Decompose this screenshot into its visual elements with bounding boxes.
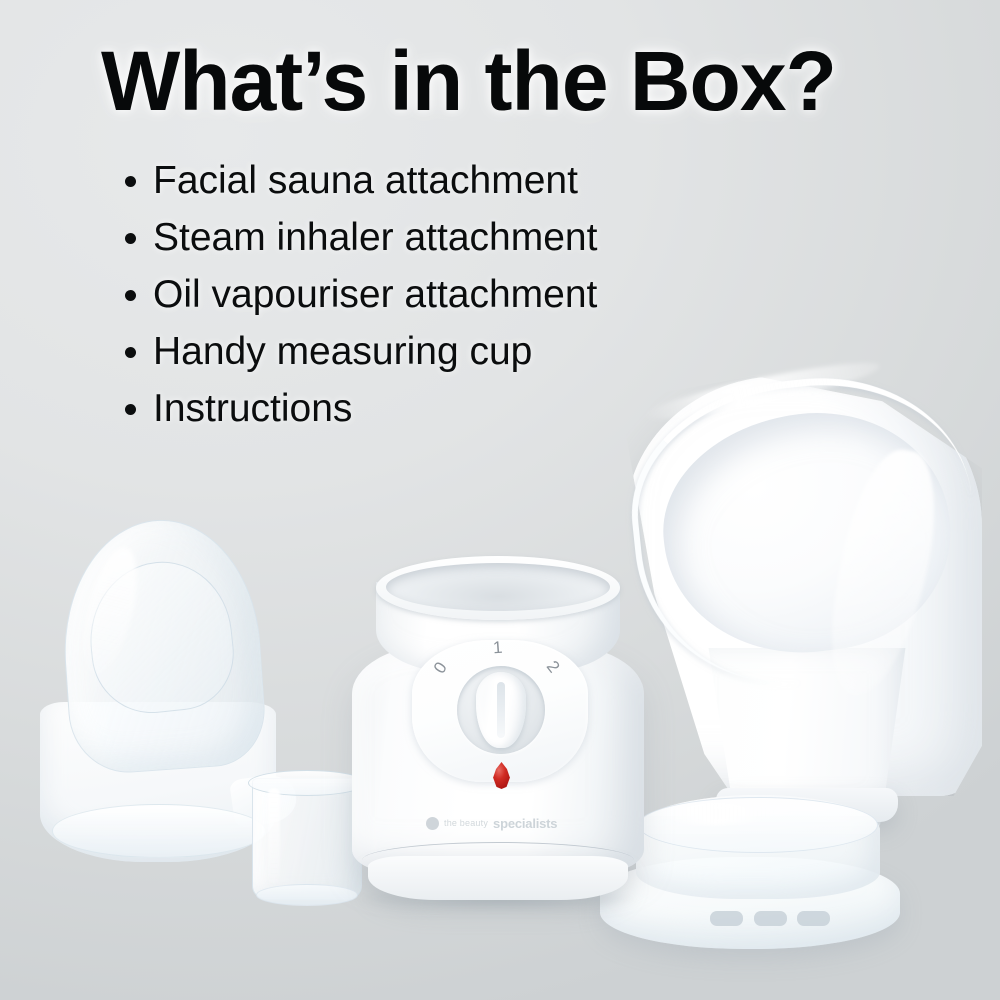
list-item: Steam inhaler attachment	[124, 209, 597, 266]
list-item: Oil vapouriser attachment	[124, 266, 597, 323]
box-contents-list: Facial sauna attachment Steam inhaler at…	[124, 152, 597, 437]
measuring-cup-rim	[248, 770, 366, 796]
product-marketing-image: What’s in the Box? Facial sauna attachme…	[0, 0, 1000, 1000]
list-item: Facial sauna attachment	[124, 152, 597, 209]
oil-vapouriser-vents	[710, 911, 830, 927]
brand-mark-icon	[426, 817, 439, 830]
oil-vapouriser-attachment	[600, 795, 908, 955]
list-item: Instructions	[124, 380, 597, 437]
power-dial-groove	[497, 682, 505, 738]
brand-logo: the beauty specialists	[426, 814, 574, 832]
measuring-cup	[246, 768, 368, 908]
vent-slot	[797, 911, 830, 926]
brand-name: specialists	[493, 816, 557, 831]
vent-slot	[754, 911, 787, 926]
list-item: Handy measuring cup	[124, 323, 597, 380]
dial-label-1: 1	[492, 638, 503, 659]
measuring-cup-highlight	[268, 788, 280, 884]
measuring-cup-base	[256, 884, 358, 906]
base-unit-seam	[362, 842, 634, 878]
steamer-base-unit: 0 1 2 the beauty specialists	[352, 556, 644, 904]
facial-sauna-attachment	[608, 318, 1000, 828]
steam-inhaler-base	[52, 804, 266, 858]
page-title: What’s in the Box?	[101, 33, 836, 130]
vent-slot	[710, 911, 743, 926]
brand-prefix: the beauty	[444, 818, 488, 828]
water-reservoir	[386, 563, 610, 611]
oil-vapouriser-highlight	[656, 803, 776, 825]
